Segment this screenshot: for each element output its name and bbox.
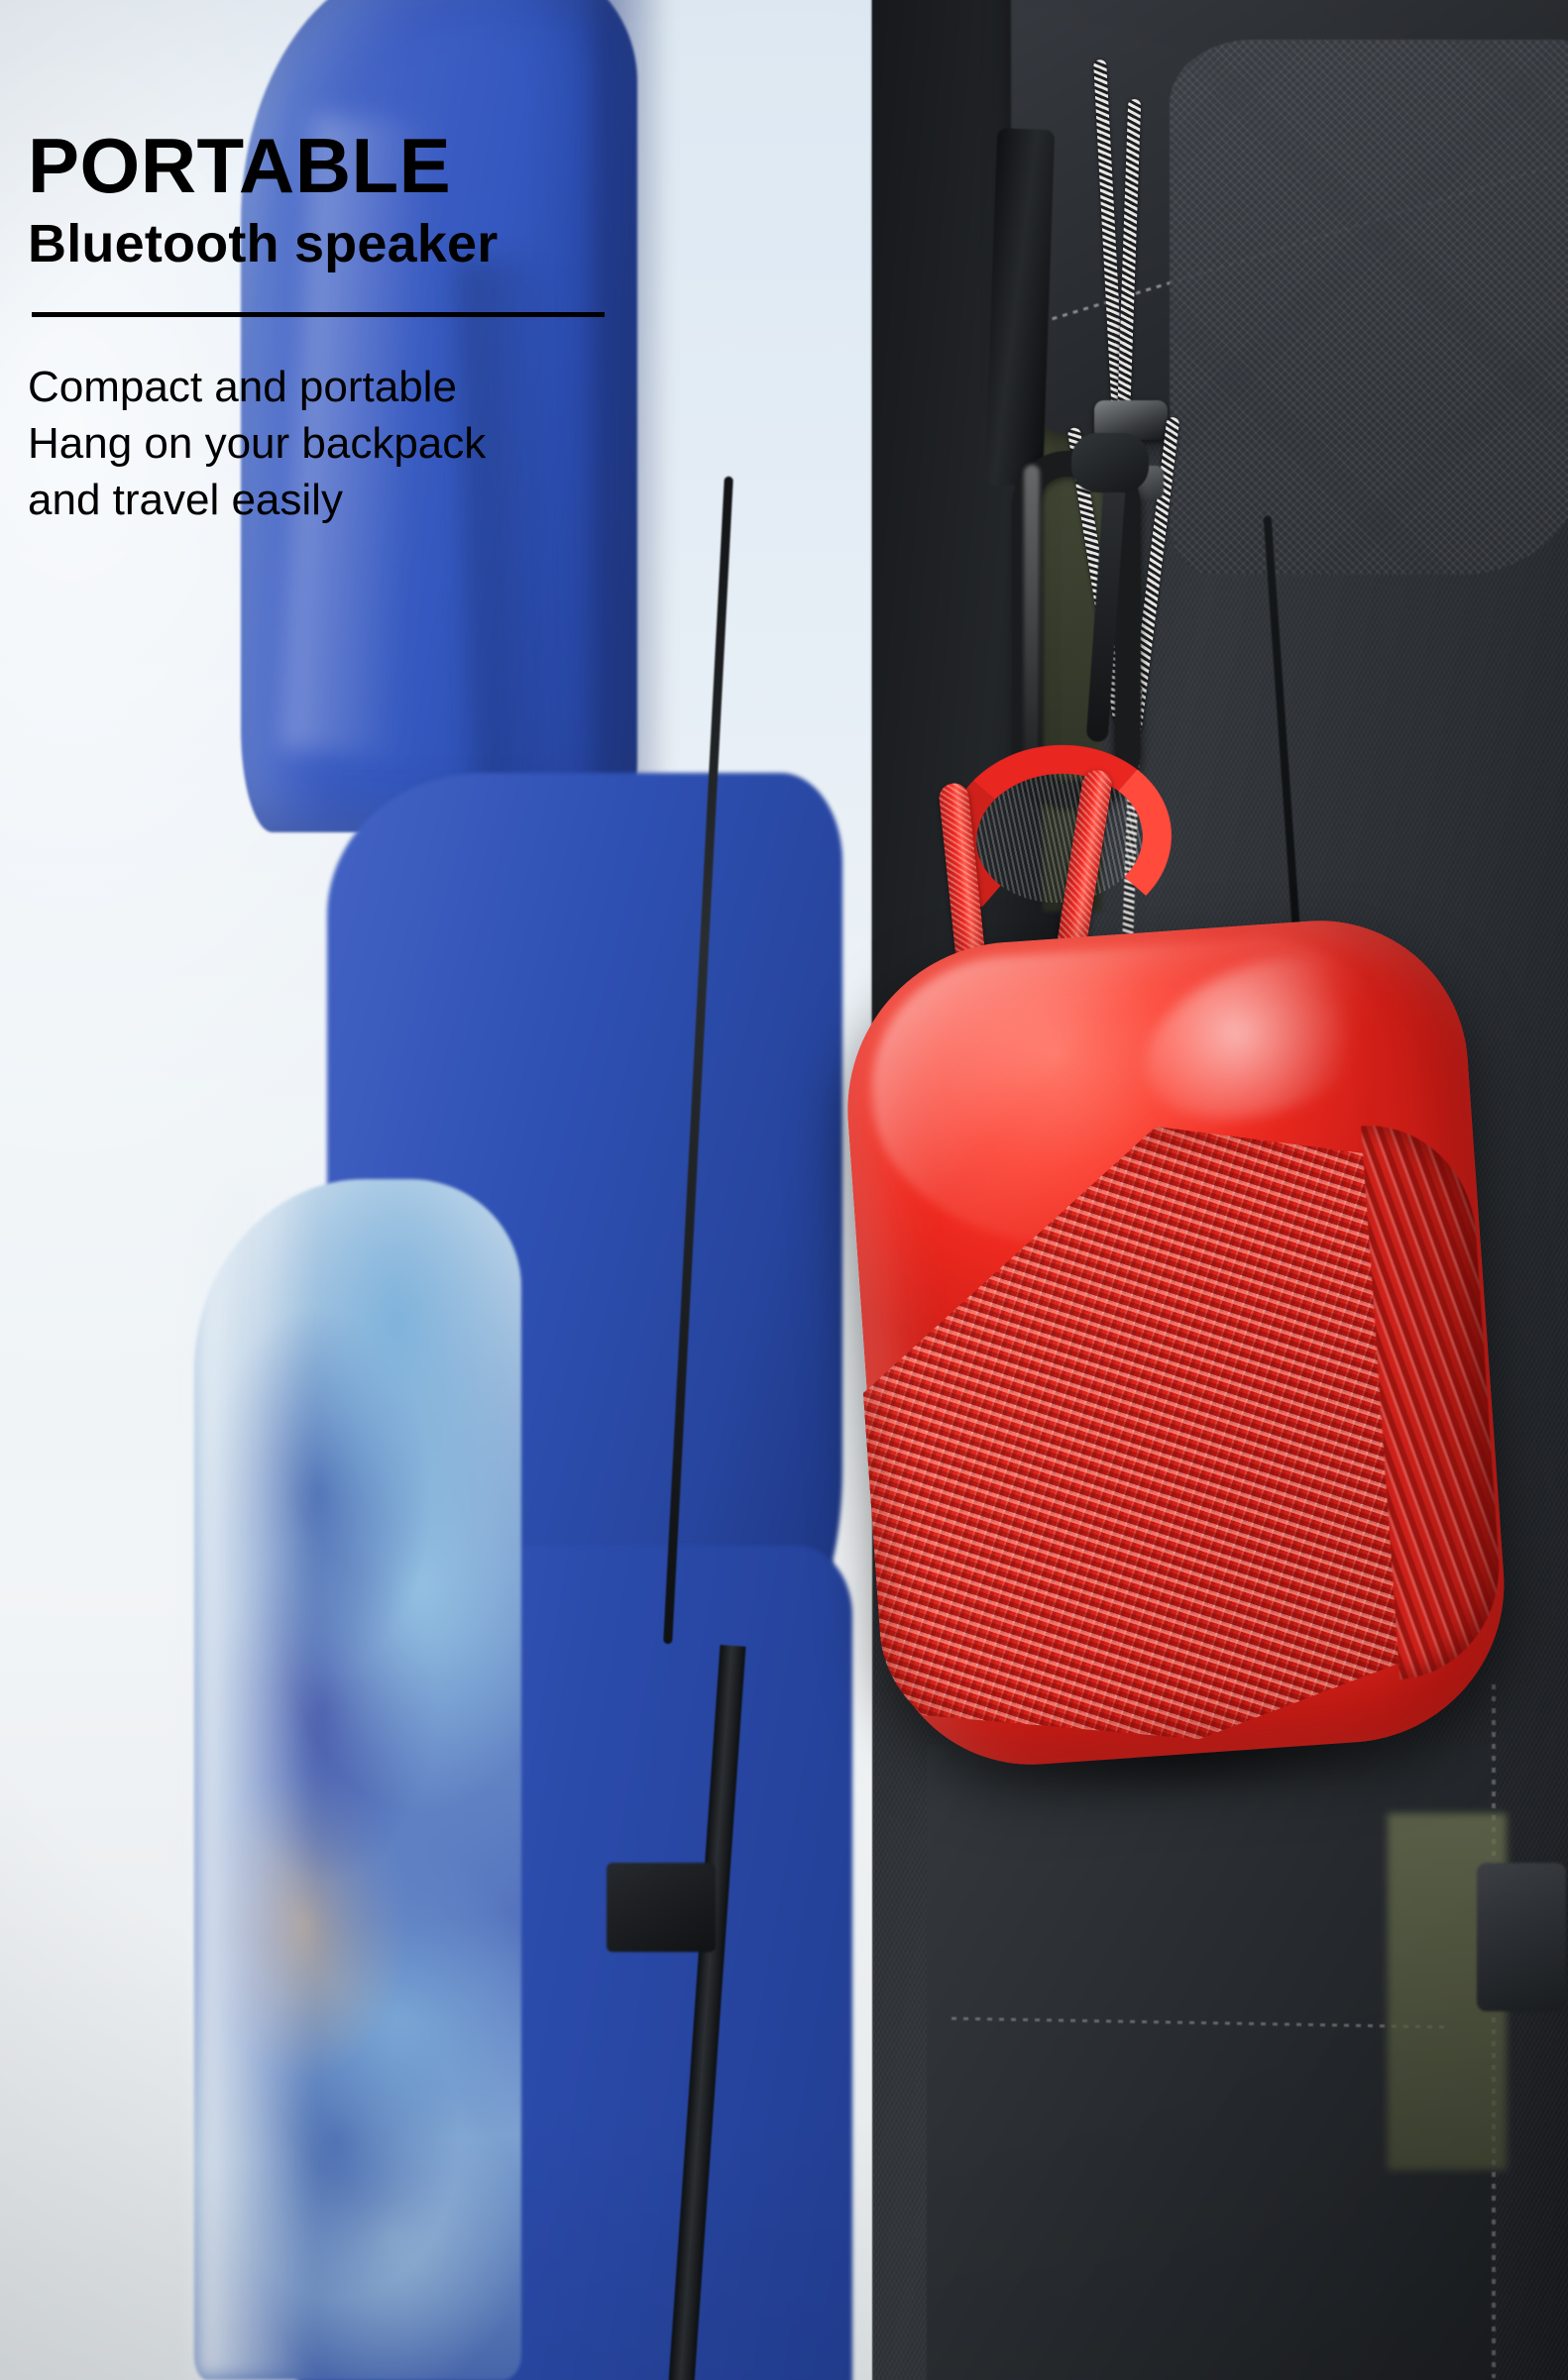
page-subtitle: Bluetooth speaker xyxy=(28,216,741,272)
page-title: PORTABLE xyxy=(28,127,741,204)
feature-description: Compact and portable Hang on your backpa… xyxy=(28,359,741,529)
feature-line: Compact and portable xyxy=(28,359,741,415)
carabiner-highlight xyxy=(1024,465,1040,762)
backpack-side-clip xyxy=(1477,1863,1566,2011)
sleeve-edge-light xyxy=(194,1179,313,2380)
marketing-copy-block: PORTABLE Bluetooth speaker Compact and p… xyxy=(28,127,741,528)
red-portable-bluetooth-speaker xyxy=(837,911,1514,1775)
product-banner: PORTABLE Bluetooth speaker Compact and p… xyxy=(0,0,1568,2380)
backpack-buckle xyxy=(607,1863,716,1952)
feature-line: and travel easily xyxy=(28,472,741,528)
feature-line: Hang on your backpack xyxy=(28,415,741,472)
carabiner-nose xyxy=(1071,433,1149,492)
backpack-mesh-pocket xyxy=(1170,40,1568,575)
divider-rule xyxy=(32,312,605,317)
